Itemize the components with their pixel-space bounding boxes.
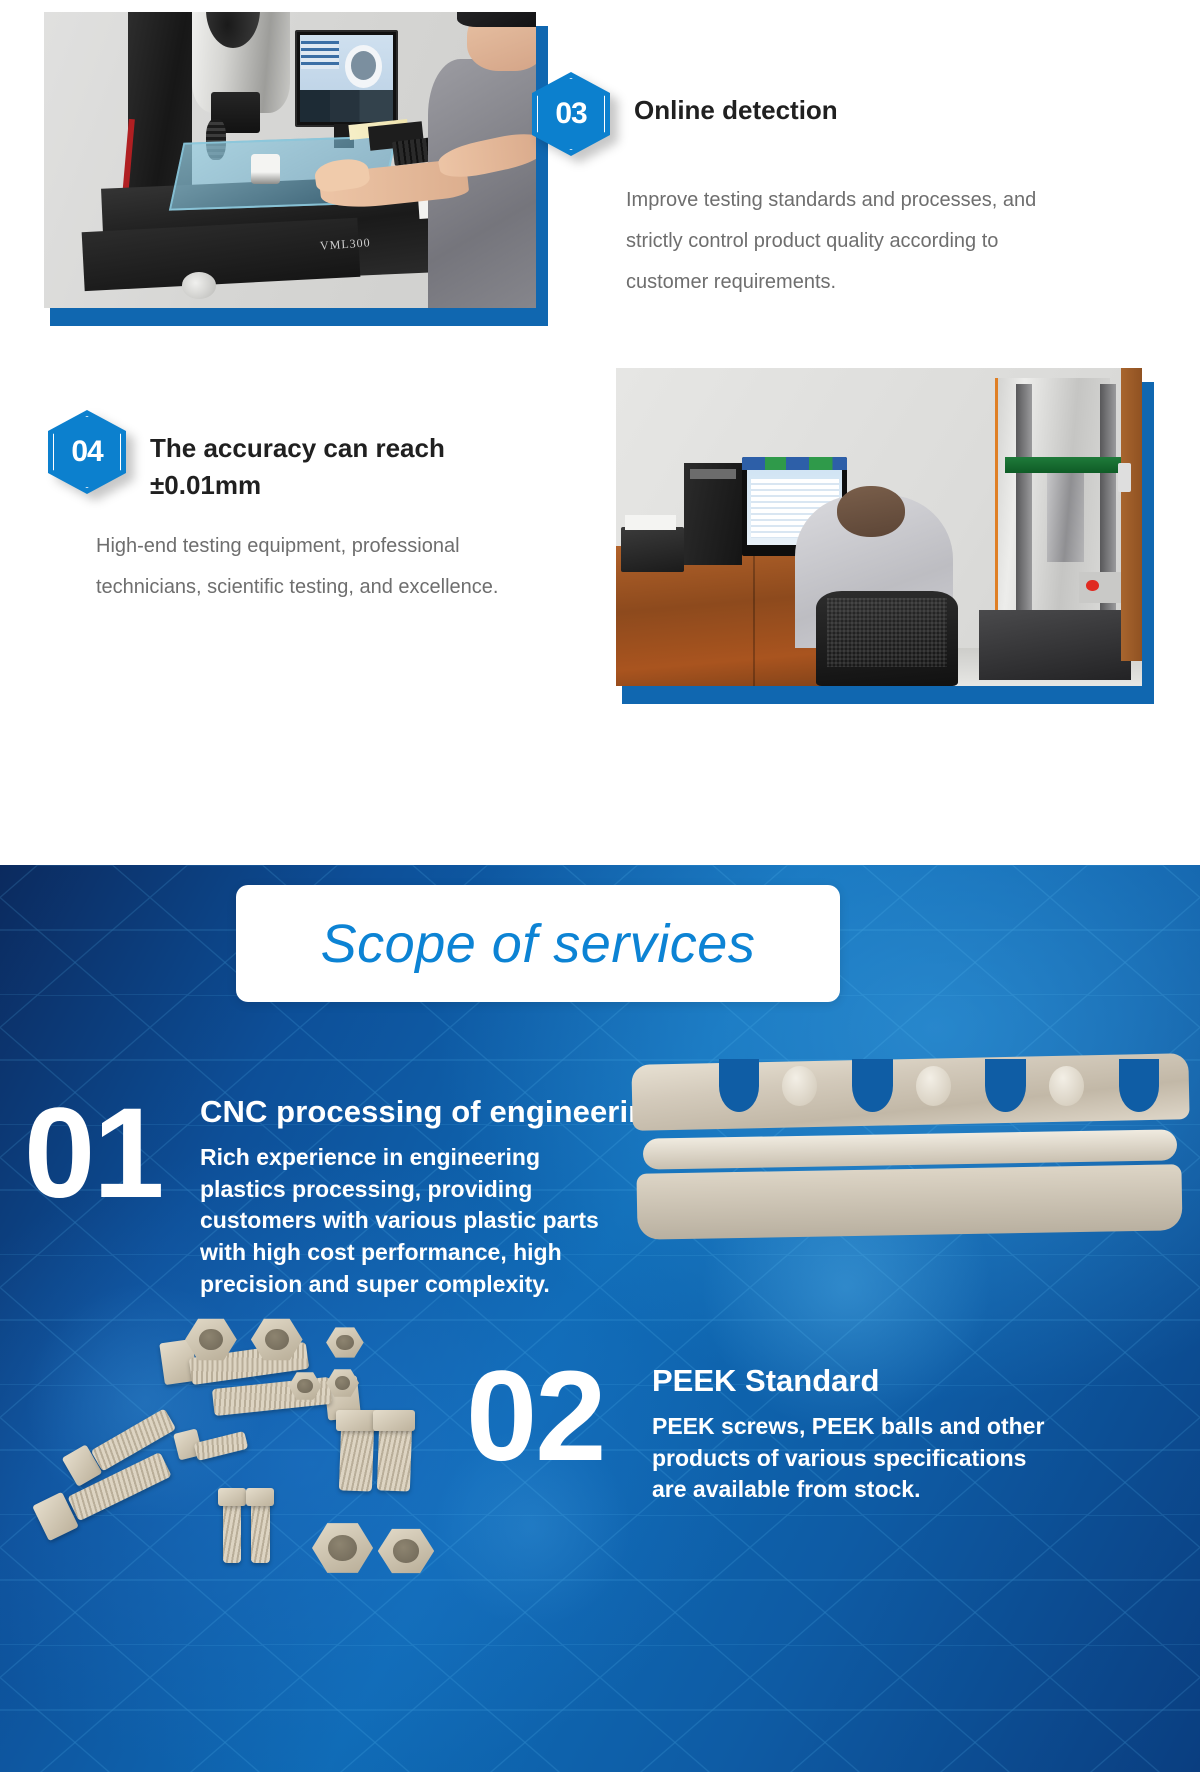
feature-block-04: 04 The accuracy can reach ±0.01mm High-e… — [0, 360, 1200, 760]
scope-of-services-section: Scope of services 01 CNC processing of e… — [0, 865, 1200, 1772]
peek-part-hole — [782, 1066, 817, 1106]
feature-block-03: VML300 03 — [0, 0, 1200, 360]
pc-tower — [684, 463, 742, 565]
scope-title-card: Scope of services — [236, 885, 840, 1002]
scope-heading: Scope of services — [321, 913, 756, 975]
printer-paper — [625, 515, 675, 530]
pc-tower-tray — [690, 469, 736, 478]
feature-04-text: 04 The accuracy can reach ±0.01mm High-e… — [96, 410, 566, 608]
hexagon-badge-number: 03 — [532, 72, 610, 156]
peek-part-notch — [852, 1059, 893, 1112]
feature-04-heading-row: 04 The accuracy can reach ±0.01mm — [48, 410, 566, 504]
hexagon-badge-number: 04 — [48, 410, 126, 494]
measured-sample-part — [251, 154, 281, 184]
peek-part-hole — [1049, 1066, 1084, 1106]
machine-monitor — [295, 30, 398, 128]
monitor-data-panel — [301, 41, 339, 69]
tensile-lab-image — [616, 368, 1142, 686]
peek-part-notch — [985, 1059, 1026, 1112]
feature-03-body: Improve testing standards and processes,… — [626, 180, 1046, 303]
metrology-machine-image: VML300 — [44, 12, 536, 308]
tester-base-cabinet — [979, 610, 1132, 680]
hexagon-badge-04-icon: 04 — [48, 410, 126, 494]
feature-04-photo — [616, 368, 1142, 686]
door-frame — [1121, 368, 1142, 661]
monitor-thumbnails — [300, 90, 393, 122]
service-01-number: 01 — [24, 1090, 162, 1218]
chair-mesh — [827, 598, 946, 667]
technician-head — [837, 486, 905, 537]
stage-roller-knob — [182, 272, 216, 299]
feature-03-photo: VML300 — [44, 12, 536, 308]
peek-part-bottom-rail — [637, 1165, 1183, 1241]
peek-part-hole — [916, 1066, 951, 1106]
peek-part-notch — [719, 1059, 760, 1112]
hexagon-badge-03-icon: 03 — [532, 72, 610, 156]
monitor-measured-circle — [345, 45, 383, 88]
tester-specimen-grips — [1047, 473, 1084, 562]
feature-04-body: High-end testing equipment, professional… — [96, 526, 566, 608]
tester-left-column — [1016, 384, 1032, 626]
service-02-title: PEEK Standard — [652, 1363, 879, 1399]
tester-crosshead-beam — [1005, 457, 1121, 473]
door-handle — [1118, 463, 1131, 492]
peek-curved-part-image — [620, 1055, 1200, 1275]
feature-03-title: Online detection — [634, 72, 838, 129]
printer — [621, 527, 684, 572]
service-block-02: 02 PEEK Standard PEEK screws, PEEK balls… — [0, 1343, 1200, 1673]
feature-03-text: 03 Online detection Improve testing stan… — [626, 72, 1046, 303]
desk-seam — [753, 546, 755, 686]
feature-03-photo-frame: VML300 — [44, 12, 542, 312]
peek-part-top-rail — [631, 1054, 1189, 1132]
feature-03-heading-row: 03 Online detection — [532, 72, 1046, 156]
peek-part-mid-rail — [643, 1130, 1177, 1170]
service-02-number: 02 — [466, 1353, 604, 1481]
software-toolbar — [742, 457, 847, 470]
operator-cap — [457, 12, 536, 27]
feature-04-title: The accuracy can reach ±0.01mm — [150, 410, 550, 504]
features-section: VML300 03 — [0, 0, 1200, 865]
office-chair — [816, 591, 958, 686]
feature-04-photo-frame — [616, 368, 1148, 690]
service-02-body: PEEK screws, PEEK balls and other produc… — [652, 1411, 1052, 1506]
